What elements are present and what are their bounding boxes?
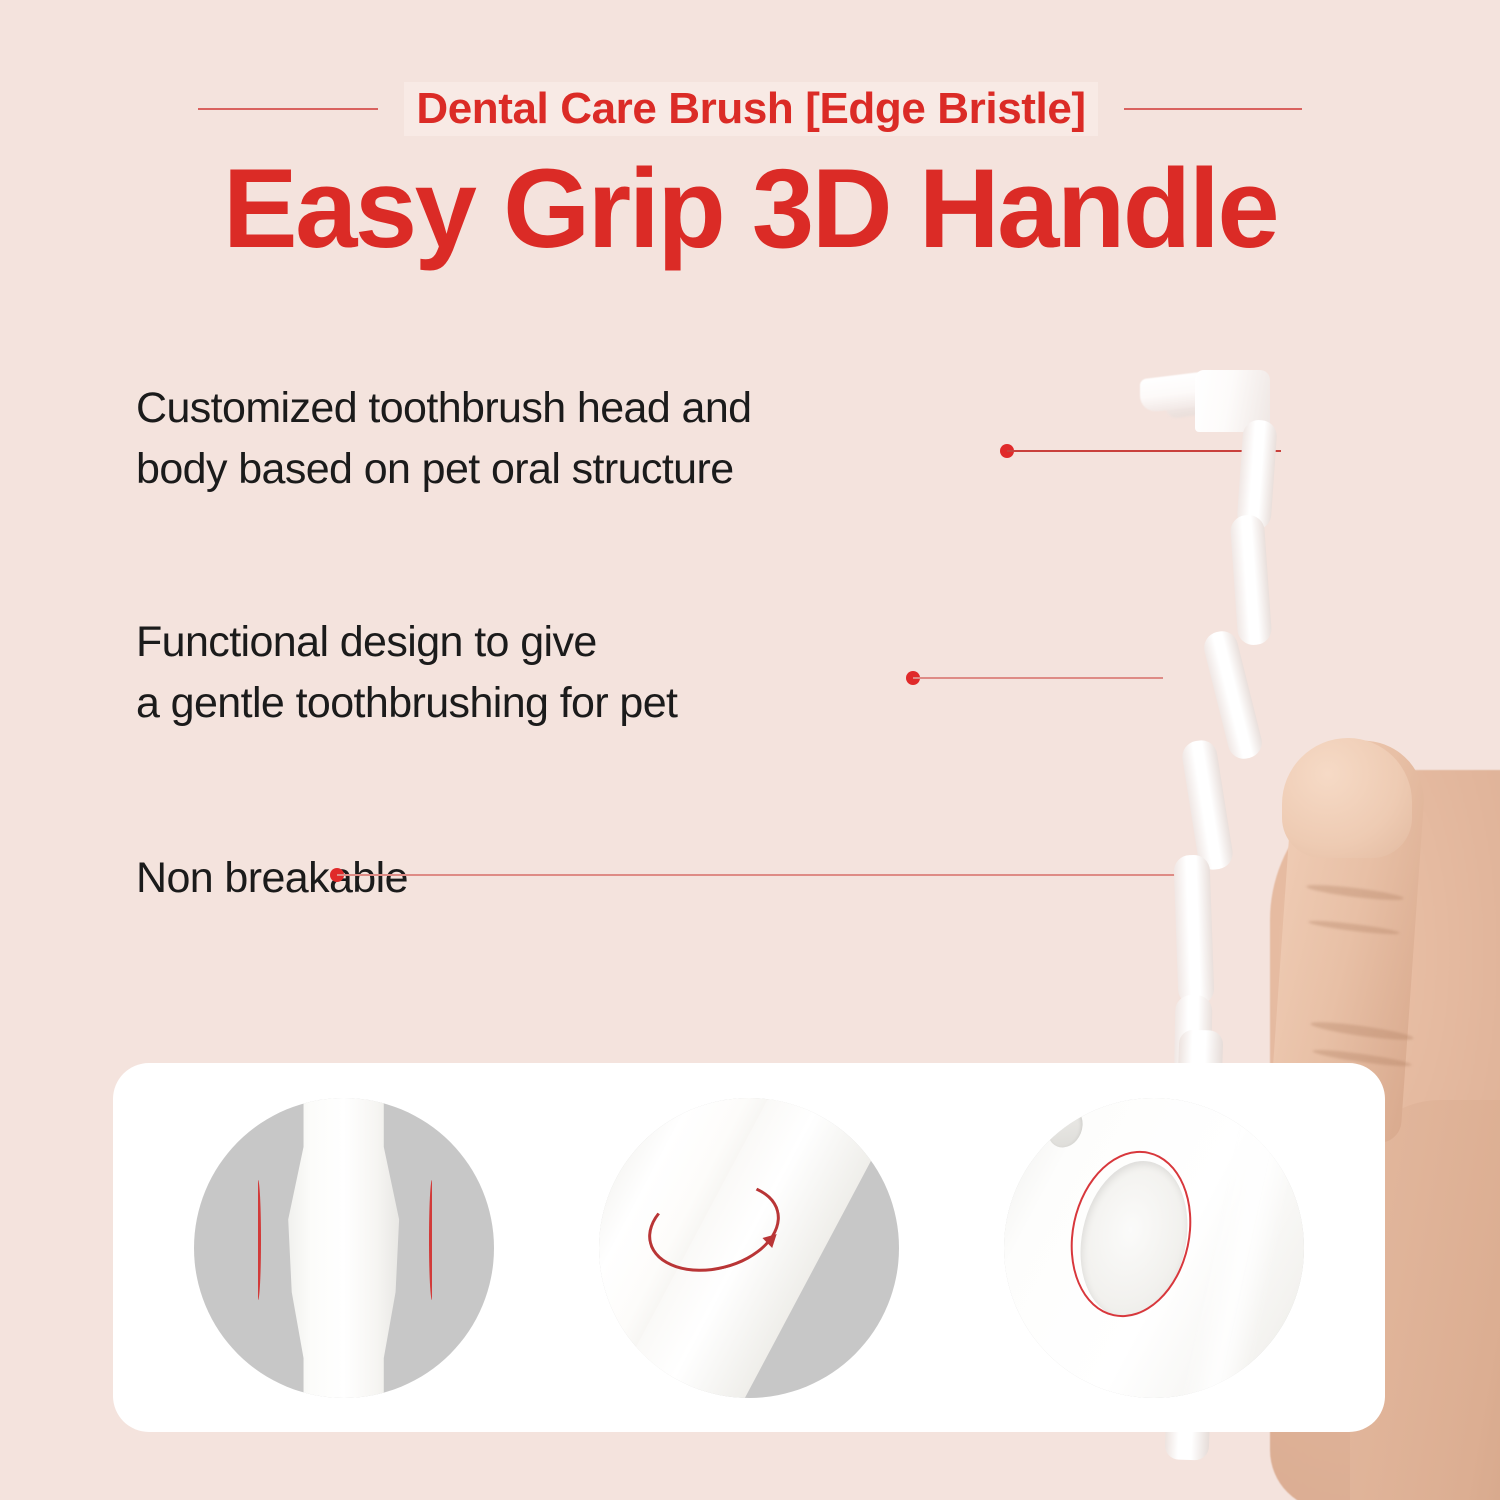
feature-text-3: Non breakable [136,848,408,909]
index-fingertip [1282,738,1412,858]
brush-neck-segment [1180,738,1235,872]
brush-neck-segment [1201,628,1265,762]
feature-text-2: Functional design to give a gentle tooth… [136,612,677,734]
eyebrow-rule-left [198,108,378,110]
contour-mark-right [429,1180,434,1300]
brush-handle-segment [1173,854,1214,1005]
brush-neck-segment [1230,514,1273,646]
eyebrow-rule-right [1124,108,1302,110]
marketing-image: Dental Care Brush [Edge Bristle] Easy Gr… [0,0,1500,1500]
detail-circle-3d-contour [599,1098,899,1398]
eyebrow-text: Dental Care Brush [Edge Bristle] [404,82,1097,135]
detail-circle-ergonomic-grip [194,1098,494,1398]
page-title: Easy Grip 3D Handle [0,150,1500,269]
feature-text-1: Customized toothbrush head and body base… [136,378,751,500]
eyebrow-row: Dental Care Brush [Edge Bristle] [0,78,1500,140]
brush-neck-segment [1236,419,1278,531]
contour-mark-left [256,1180,261,1300]
detail-card [113,1063,1385,1432]
detail-circle-thumb-rest [1004,1098,1304,1398]
handle-shaft [285,1098,403,1398]
